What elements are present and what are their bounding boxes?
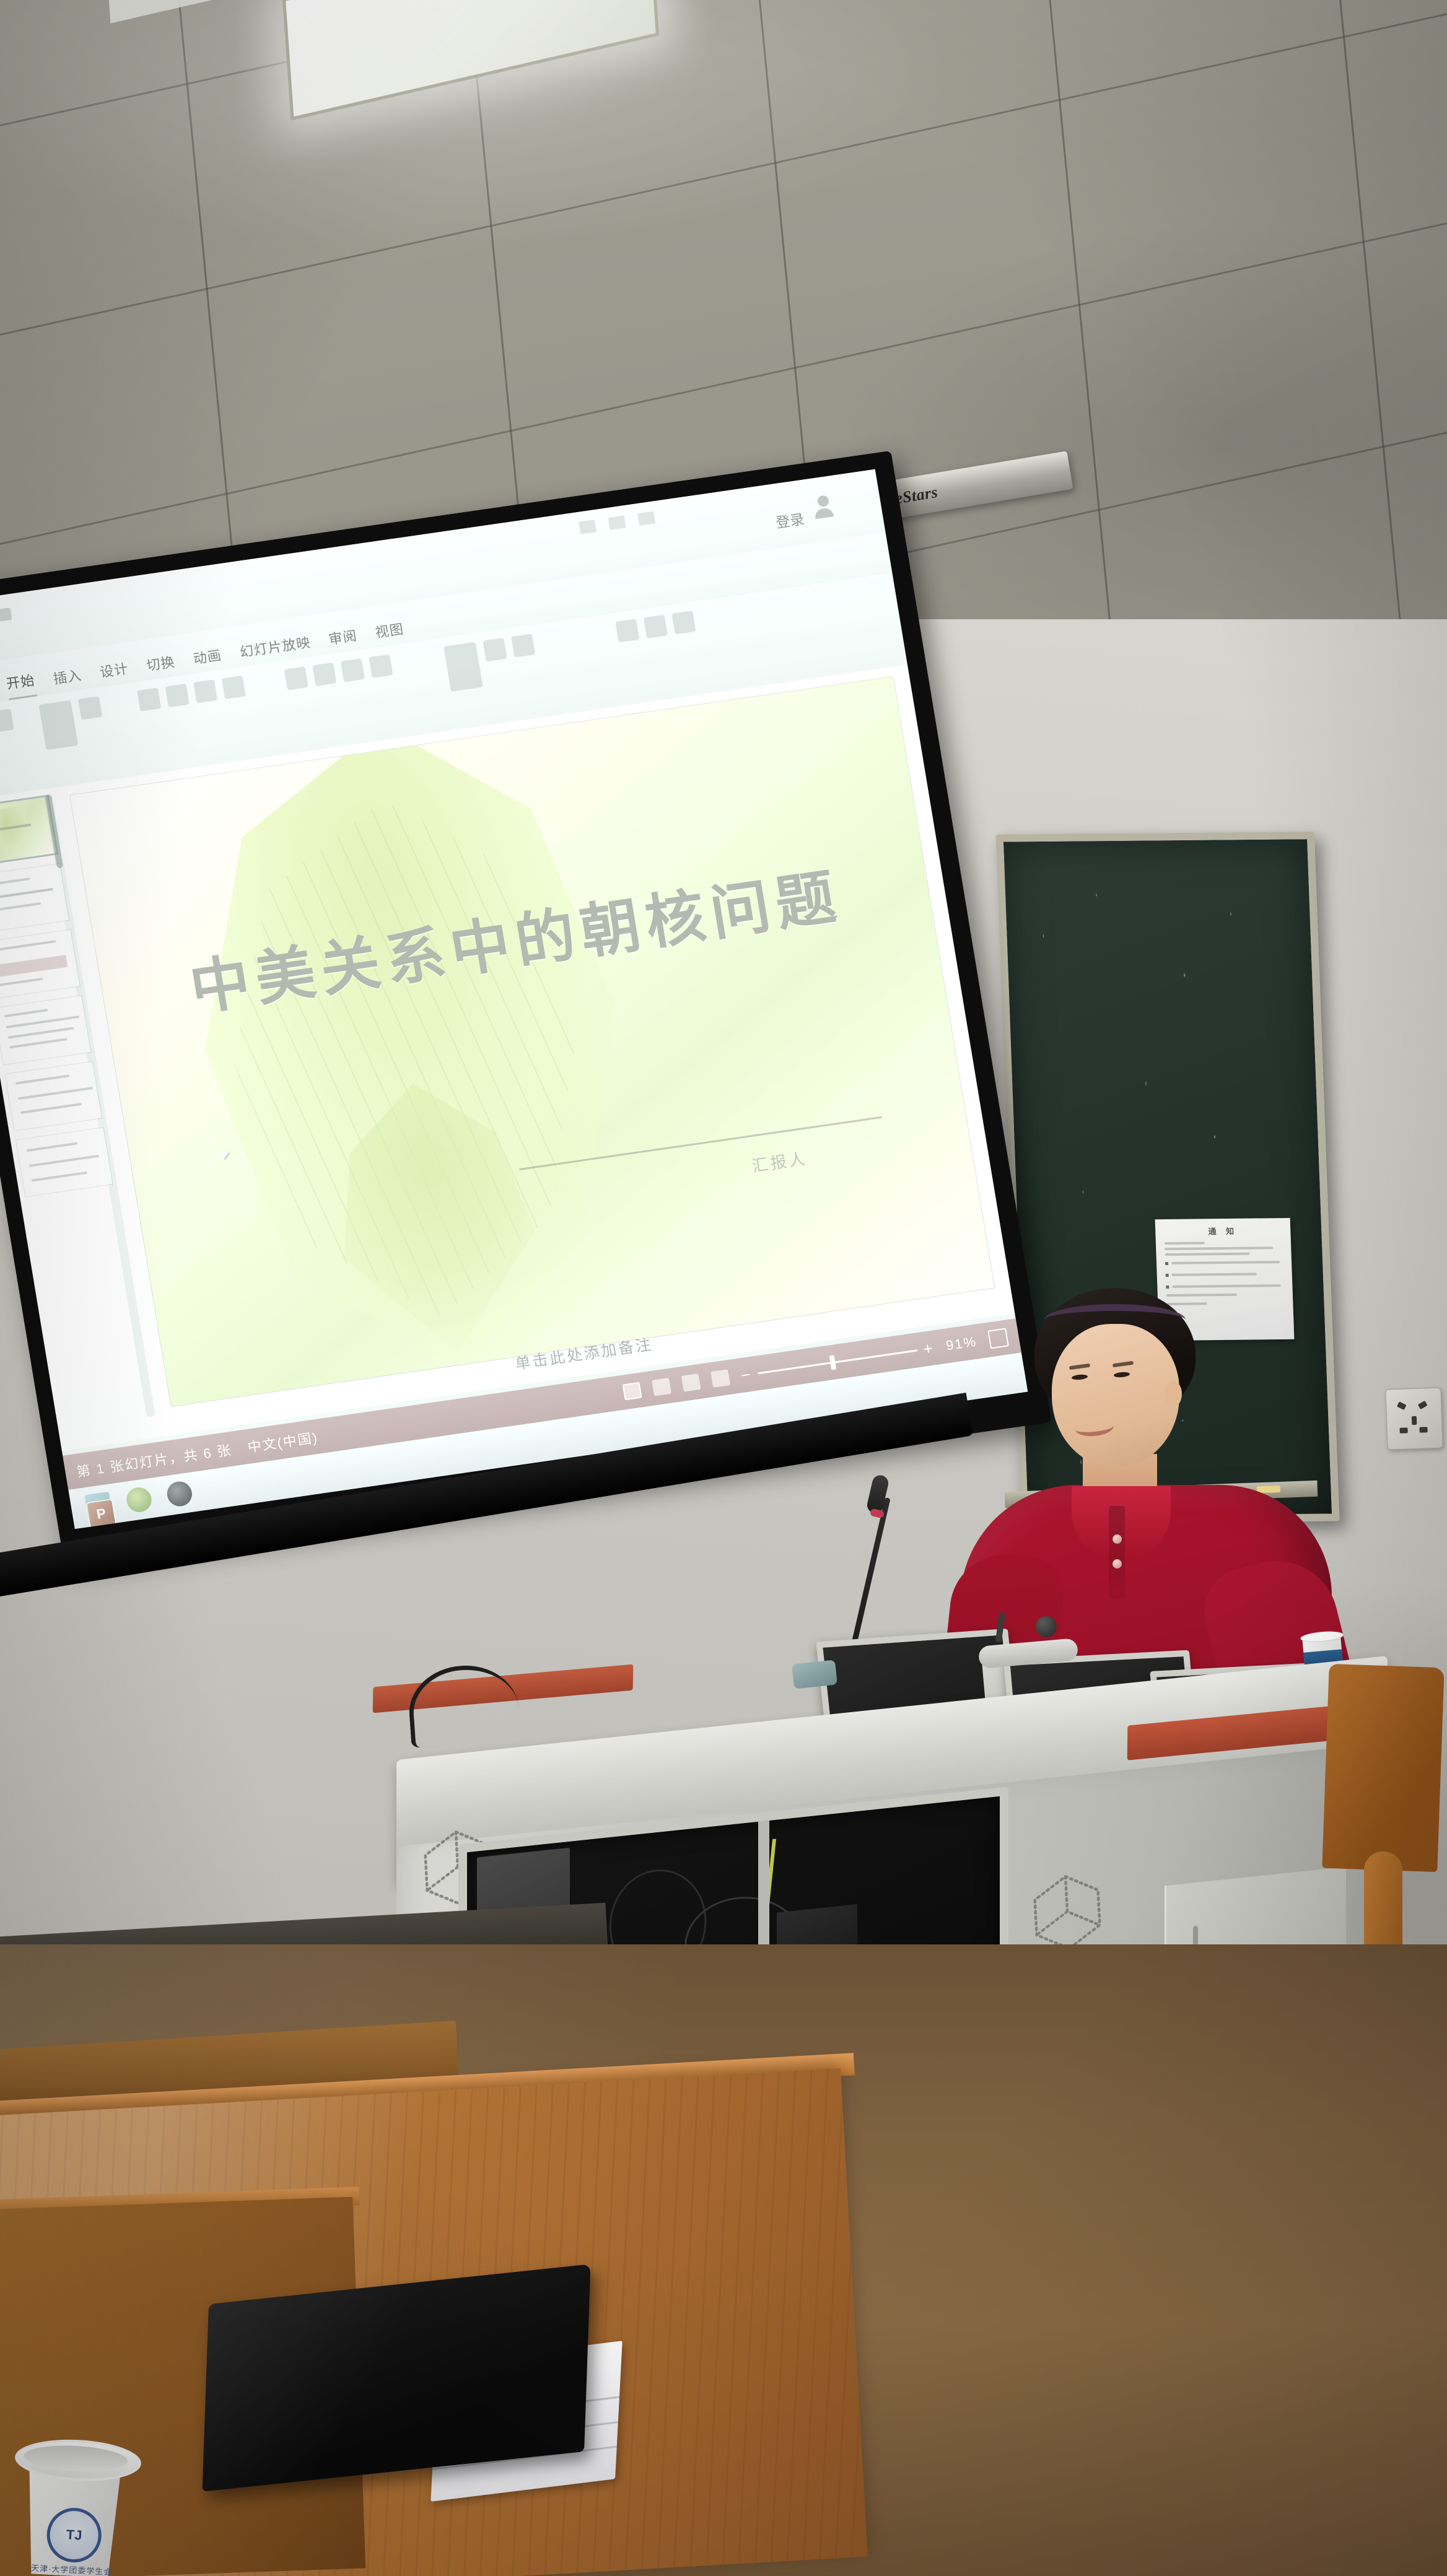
mouse-cursor-icon	[221, 1148, 230, 1160]
notice-bullet-line	[1172, 1284, 1280, 1288]
tab-home[interactable]: 开始	[5, 669, 38, 700]
view-slideshow-button[interactable]	[710, 1369, 730, 1388]
start-slideshow-icon[interactable]	[0, 607, 12, 622]
tab-review[interactable]: 审阅	[327, 625, 359, 654]
notice-bullet-line	[1171, 1261, 1280, 1264]
view-reading-button[interactable]	[681, 1373, 701, 1392]
bullet-dot	[1165, 1261, 1168, 1264]
outlet-slot	[1412, 1416, 1417, 1425]
tab-design[interactable]: 设计	[98, 658, 131, 687]
thumbnail-line	[27, 1142, 77, 1152]
presenter-placket	[1109, 1506, 1125, 1599]
thumbnail-line	[0, 888, 53, 900]
account-body	[814, 507, 834, 519]
ribbon-group-font[interactable]	[137, 676, 246, 711]
find-icon[interactable]	[615, 619, 639, 642]
underline-icon[interactable]	[193, 679, 217, 703]
minimize-button[interactable]	[579, 520, 597, 534]
thumbnail-image-block	[0, 955, 68, 977]
thumbnail-line	[6, 1016, 80, 1029]
slide-thumbnail-5[interactable]	[4, 1061, 102, 1131]
shapes-icon[interactable]	[444, 642, 483, 692]
classroom-photo-scene: 通 知 ThreeStars 登录	[0, 0, 1447, 2576]
presenter-button	[1113, 1559, 1122, 1569]
ribbon-group-paragraph[interactable]	[284, 655, 393, 690]
bold-icon[interactable]	[137, 687, 161, 711]
thumbnail-line	[0, 940, 56, 952]
slide-thumbnail-4[interactable]	[0, 995, 91, 1065]
cut-icon[interactable]	[0, 709, 14, 733]
powerpoint-icon[interactable]: P	[87, 1500, 115, 1528]
signin-label[interactable]: 登录	[774, 507, 806, 532]
thumbnail-line	[20, 1102, 82, 1113]
quick-access-toolbar[interactable]	[0, 607, 12, 631]
thumbnail-line	[0, 978, 43, 986]
browser-icon[interactable]	[125, 1486, 153, 1513]
view-slide-sorter-button[interactable]	[652, 1378, 671, 1396]
close-button[interactable]	[637, 511, 655, 525]
font-color-icon[interactable]	[222, 676, 246, 699]
outlet-slot	[1397, 1401, 1407, 1410]
notice-text-line	[1165, 1247, 1273, 1250]
outlet-slot	[1419, 1427, 1427, 1432]
presenter-button	[1113, 1534, 1122, 1544]
slide-subtitle-text[interactable]: 汇报人	[654, 1132, 905, 1190]
arrange-icon[interactable]	[483, 638, 507, 661]
thumbnail-line	[0, 902, 42, 913]
ribbon-group-slides[interactable]	[39, 696, 107, 750]
presenter-face	[1052, 1324, 1179, 1468]
presenter-headband	[1044, 1304, 1186, 1336]
thumbnail-line	[32, 1172, 88, 1182]
thumbnail-line	[0, 877, 30, 887]
new-slide-icon[interactable]	[39, 700, 79, 750]
chair-backrest	[1322, 1664, 1444, 1872]
numbering-icon[interactable]	[312, 663, 336, 686]
notice-bullet-line	[1172, 1273, 1257, 1276]
app-icon[interactable]	[165, 1480, 194, 1508]
bullet-dot	[1166, 1273, 1169, 1276]
paper-cup-on-desk: TJ 天津·大学团委学生会	[9, 2437, 139, 2576]
thumbnail-line	[15, 1074, 70, 1085]
tab-animations[interactable]: 动画	[191, 645, 224, 674]
select-icon[interactable]	[671, 611, 696, 634]
thumbnail-line	[18, 1087, 94, 1100]
bullets-icon[interactable]	[284, 666, 308, 690]
ribbon-group-clipboard[interactable]	[0, 709, 18, 763]
italic-icon[interactable]	[165, 684, 190, 707]
thumbnail-line	[8, 1027, 74, 1038]
tab-insert[interactable]: 插入	[51, 664, 84, 694]
align-center-icon[interactable]	[369, 655, 393, 678]
wall-outlet[interactable]	[1385, 1387, 1443, 1450]
ribbon-group-editing[interactable]	[615, 611, 696, 643]
outlet-slot	[1400, 1427, 1408, 1433]
tab-view[interactable]: 视图	[374, 618, 406, 647]
thumbnail-line	[9, 1038, 67, 1048]
presenter-ear	[1165, 1381, 1182, 1407]
outlet-slot	[1418, 1401, 1428, 1409]
notice-bullet	[1165, 1258, 1283, 1268]
marker-cap	[1036, 1616, 1057, 1637]
zoom-out-icon[interactable]: −	[740, 1366, 753, 1383]
zoom-handle[interactable]	[829, 1355, 836, 1370]
notice-bullet	[1165, 1269, 1283, 1279]
powerpoint-window[interactable]: 登录 文件 开始 插入 设计 切换 动画 幻灯片放映 审阅 视图	[0, 469, 1028, 1529]
replace-icon[interactable]	[644, 615, 668, 638]
account-person-icon[interactable]	[812, 494, 837, 521]
tab-transitions[interactable]: 切换	[145, 651, 177, 680]
maximize-button[interactable]	[608, 515, 626, 529]
ribbon-group-drawing[interactable]	[444, 633, 540, 692]
notice-salutation-line	[1165, 1242, 1205, 1245]
thumbnail-line	[29, 1155, 99, 1167]
slide-thumbnail-6[interactable]	[15, 1127, 113, 1197]
account-head	[817, 495, 830, 507]
shape-styles-icon[interactable]	[511, 633, 535, 657]
thumbnail-line	[4, 1009, 48, 1017]
view-normal-button[interactable]	[622, 1382, 642, 1401]
language-label[interactable]: 中文(中国)	[246, 1427, 320, 1456]
layout-icon[interactable]	[78, 696, 102, 720]
notice-text-line	[1165, 1253, 1249, 1256]
align-left-icon[interactable]	[341, 658, 365, 682]
notice-heading: 通 知	[1164, 1224, 1282, 1237]
